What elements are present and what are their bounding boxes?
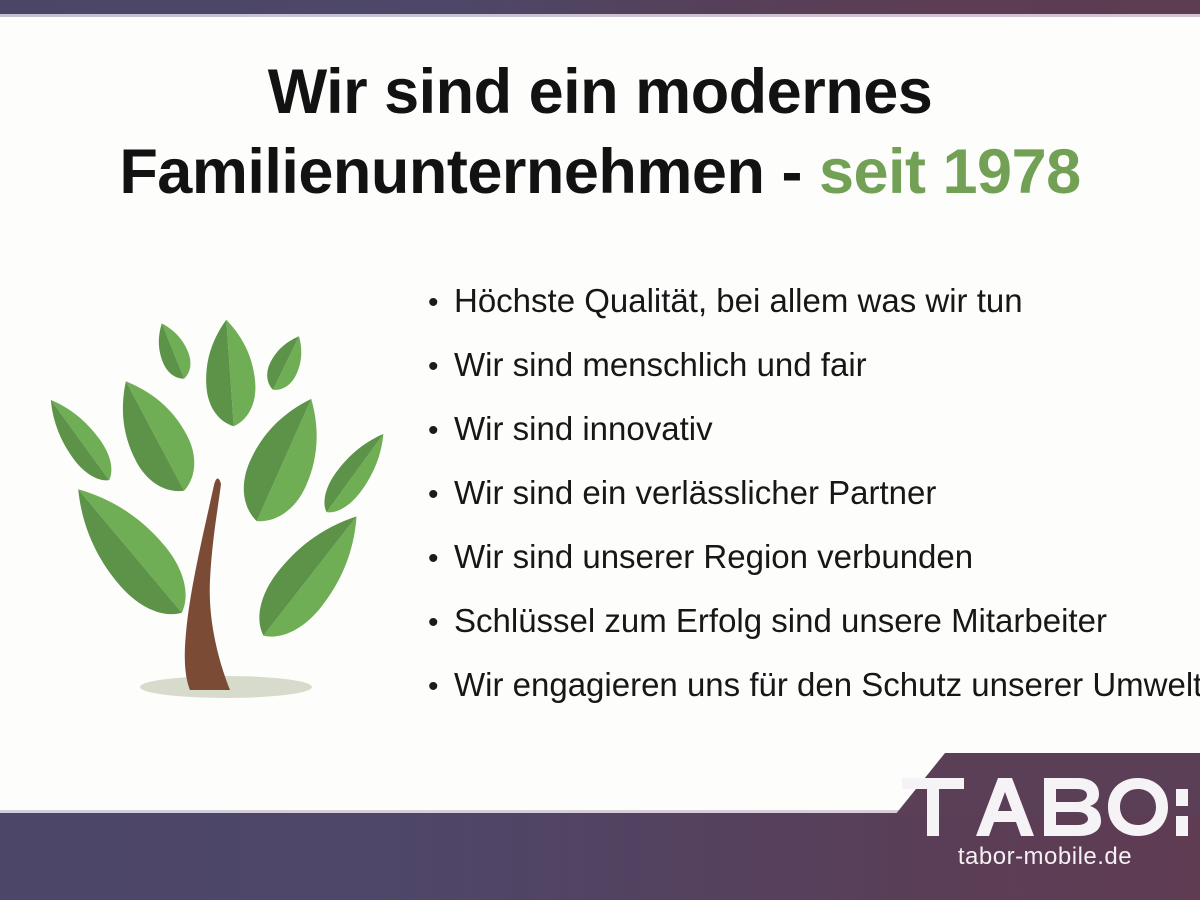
leaf-outer-left	[38, 390, 123, 489]
tree-illustration	[18, 288, 418, 708]
leaf-outer-right	[314, 425, 396, 522]
page-title-line-2: Familienunternehmen - seit 1978	[60, 132, 1140, 212]
leaf-top-center	[202, 318, 258, 428]
list-item-label: Höchste Qualität, bei allem was wir tun	[454, 284, 1023, 317]
bullet-icon: •	[428, 608, 454, 638]
bullet-icon: •	[428, 288, 454, 318]
bullet-icon: •	[428, 544, 454, 574]
brand-wordmark	[895, 778, 1195, 838]
list-item: • Wir sind menschlich und fair	[428, 348, 1188, 412]
list-item: • Wir sind innovativ	[428, 412, 1188, 476]
list-item-label: Schlüssel zum Erfolg sind unsere Mitarbe…	[454, 604, 1107, 637]
bullet-icon: •	[428, 352, 454, 382]
page-title-line-2-main: Familienunternehmen -	[119, 137, 819, 207]
list-item: • Wir sind unserer Region verbunden	[428, 540, 1188, 604]
brand-logo[interactable]: tabor-mobile.de	[895, 778, 1195, 872]
list-item: • Wir sind ein verlässlicher Partner	[428, 476, 1188, 540]
list-item: • Wir engagieren uns für den Schutz unse…	[428, 668, 1188, 732]
slide-canvas: Wir sind ein modernes Familienunternehme…	[0, 0, 1200, 900]
leaf-lower-left	[55, 470, 204, 632]
bullet-icon: •	[428, 416, 454, 446]
leaf-mid-left	[101, 368, 210, 504]
leaf-top-left-small	[149, 318, 197, 383]
tree-trunk	[185, 478, 230, 690]
leaf-top-right-small	[260, 330, 312, 396]
list-item-label: Wir sind innovativ	[454, 412, 713, 445]
list-item-label: Wir sind unserer Region verbunden	[454, 540, 973, 573]
page-title-line-1: Wir sind ein modernes	[268, 57, 933, 127]
page-title: Wir sind ein modernes Familienunternehme…	[60, 52, 1140, 212]
leaf-lower-right	[241, 499, 378, 653]
list-item-label: Wir engagieren uns für den Schutz unsere…	[454, 668, 1200, 701]
bullet-icon: •	[428, 480, 454, 510]
page-title-accent: seit 1978	[819, 137, 1081, 207]
list-item-label: Wir sind ein verlässlicher Partner	[454, 476, 936, 509]
top-accent-bar	[0, 0, 1200, 14]
brand-url[interactable]: tabor-mobile.de	[895, 842, 1195, 872]
bullet-icon: •	[428, 672, 454, 702]
value-list: • Höchste Qualität, bei allem was wir tu…	[428, 284, 1188, 732]
list-item: • Höchste Qualität, bei allem was wir tu…	[428, 284, 1188, 348]
top-accent-hairline	[0, 14, 1200, 17]
list-item-label: Wir sind menschlich und fair	[454, 348, 867, 381]
list-item: • Schlüssel zum Erfolg sind unsere Mitar…	[428, 604, 1188, 668]
